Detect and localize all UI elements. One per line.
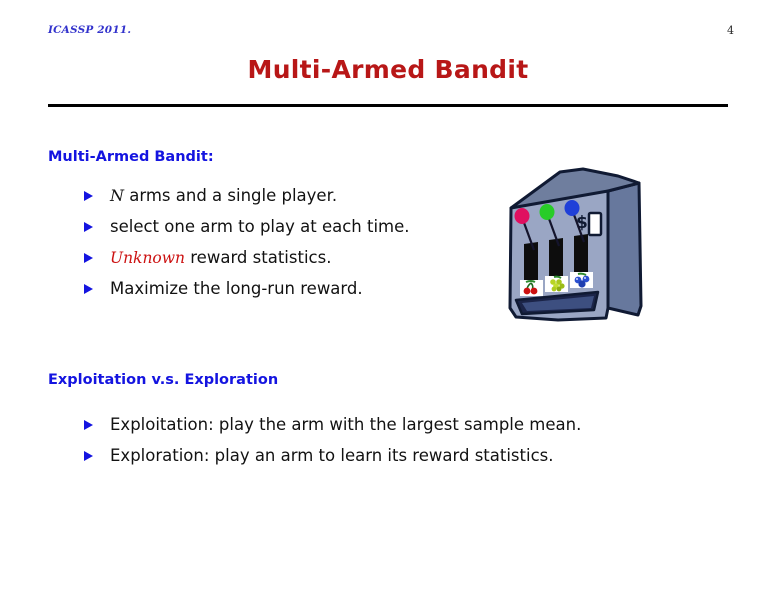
page-number: 4 xyxy=(727,24,734,37)
section-heading-exploitation-exploration: Exploitation v.s. Exploration xyxy=(48,372,278,388)
list-item: select one arm to play at each time. xyxy=(84,217,410,248)
bullet-triangle-icon xyxy=(84,222,93,232)
bullet-list-exploitation-exploration: Exploitation: play the arm with the larg… xyxy=(84,415,581,477)
bullet-text-pre: Exploitation: play the arm with the larg… xyxy=(110,415,581,434)
list-item: Exploration: play an arm to learn its re… xyxy=(84,446,581,477)
bullet-text-post: arms and a single player. xyxy=(124,186,337,205)
section-heading-multi-armed-bandit: Multi-Armed Bandit: xyxy=(48,149,214,165)
bullet-triangle-icon xyxy=(84,420,93,430)
bullet-triangle-icon xyxy=(84,451,93,461)
bullet-triangle-icon xyxy=(84,284,93,294)
slide-header: ICASSP 2011. 4 xyxy=(0,0,776,46)
slot-machine-illustration: $ xyxy=(498,158,648,340)
list-item: Unknown reward statistics. xyxy=(84,248,410,279)
page-title: Multi-Armed Bandit xyxy=(0,55,776,84)
bullet-triangle-icon xyxy=(84,191,93,201)
bullet-text-pre: Exploration: play an arm to learn its re… xyxy=(110,446,554,465)
list-item: Maximize the long-run reward. xyxy=(84,279,410,310)
list-item: N arms and a single player. xyxy=(84,186,410,217)
lever-slot-3 xyxy=(574,234,588,276)
bullet-text-emph: Unknown xyxy=(110,249,185,267)
lever-slot-1 xyxy=(524,242,538,284)
title-divider xyxy=(48,104,728,107)
lever-slot-2 xyxy=(549,238,563,280)
coin-slot-icon xyxy=(589,213,601,235)
conference-label: ICASSP 2011. xyxy=(48,24,131,36)
bullet-text-pre: Maximize the long-run reward. xyxy=(110,279,363,298)
list-item: Exploitation: play the arm with the larg… xyxy=(84,415,581,446)
lever-knob-3-blue xyxy=(565,200,580,216)
lever-knob-2-green xyxy=(540,204,555,220)
reel-window-cherries xyxy=(520,280,543,296)
bullet-text-emph: N xyxy=(110,186,124,205)
bullet-list-multi-armed-bandit: N arms and a single player. select one a… xyxy=(84,186,410,310)
lever-knob-1-pink xyxy=(515,208,530,224)
bullet-text-post: reward statistics. xyxy=(185,248,331,267)
machine-side-face xyxy=(608,183,641,315)
bullet-triangle-icon xyxy=(84,253,93,263)
bullet-text-pre: select one arm to play at each time. xyxy=(110,217,410,236)
